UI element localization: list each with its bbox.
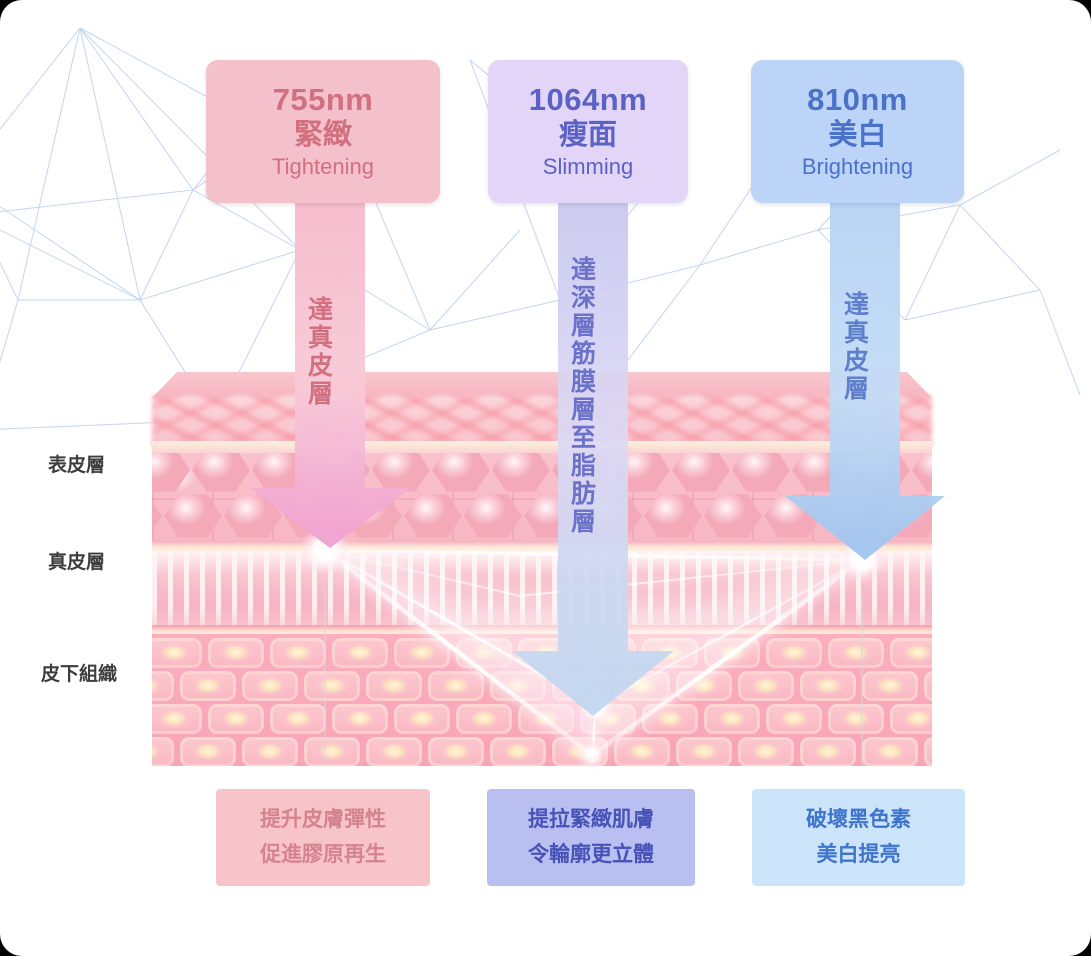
fat-cell bbox=[890, 704, 932, 734]
wavelength-card-755[interactable]: 755nm 緊緻 Tightening bbox=[206, 60, 440, 203]
fat-cell bbox=[924, 671, 932, 701]
arrow-810nm-label: 達真皮層 bbox=[839, 291, 870, 403]
benefit-1064-line2: 令輪廓更立體 bbox=[528, 838, 654, 872]
wavelength-card-810[interactable]: 810nm 美白 Brightening bbox=[751, 60, 964, 203]
fat-cell bbox=[676, 671, 732, 701]
fat-cell bbox=[704, 704, 760, 734]
fat-cell bbox=[800, 737, 856, 766]
wavelength-value-755: 755nm bbox=[273, 83, 374, 118]
fat-cell bbox=[490, 737, 546, 766]
fat-cell bbox=[242, 737, 298, 766]
fat-cell bbox=[456, 638, 512, 668]
fat-cell bbox=[828, 638, 884, 668]
epidermis-cell bbox=[672, 453, 730, 493]
fat-cell bbox=[704, 638, 760, 668]
fat-cell bbox=[180, 737, 236, 766]
fat-cell bbox=[394, 704, 450, 734]
fat-cell bbox=[924, 737, 932, 766]
epidermis-cell bbox=[152, 453, 190, 493]
fat-cell bbox=[152, 704, 202, 734]
fat-cell bbox=[456, 704, 512, 734]
fat-cell bbox=[828, 704, 884, 734]
benefit-810-line1: 破壞黑色素 bbox=[806, 803, 911, 837]
fat-cell bbox=[676, 737, 732, 766]
wavelength-card-1064[interactable]: 1064nm 瘦面 Slimming bbox=[488, 60, 688, 203]
fat-cell bbox=[242, 671, 298, 701]
fat-cell bbox=[738, 737, 794, 766]
fat-cell bbox=[428, 671, 484, 701]
benefit-box-810[interactable]: 破壞黑色素 美白提亮 bbox=[752, 789, 965, 886]
epidermis-cell bbox=[164, 493, 222, 539]
fat-cell bbox=[394, 638, 450, 668]
fat-cell bbox=[332, 704, 388, 734]
fat-cell bbox=[304, 737, 360, 766]
fat-cell bbox=[152, 638, 202, 668]
fat-cell bbox=[614, 737, 670, 766]
fat-cell bbox=[208, 704, 264, 734]
fat-cell bbox=[428, 737, 484, 766]
epidermis-cell bbox=[192, 453, 250, 493]
fat-cell bbox=[366, 671, 422, 701]
benefit-755-line1: 提升皮膚彈性 bbox=[260, 803, 386, 837]
benefit-755-line2: 促進膠原再生 bbox=[260, 838, 386, 872]
fat-cell bbox=[332, 638, 388, 668]
epidermis-cell bbox=[732, 453, 790, 493]
epidermis-cell bbox=[704, 493, 762, 539]
arrow-1064nm-label: 達深層筋膜層至脂肪層 bbox=[566, 256, 597, 536]
wavelength-cn-755: 緊緻 bbox=[294, 118, 352, 153]
fat-cell bbox=[552, 737, 608, 766]
fat-cell bbox=[862, 737, 918, 766]
fat-cell bbox=[304, 671, 360, 701]
layer-label-epidermis: 表皮層 bbox=[48, 450, 105, 477]
fat-cell bbox=[800, 671, 856, 701]
wavelength-en-810: Brightening bbox=[802, 154, 913, 180]
fat-cell bbox=[152, 737, 174, 766]
benefit-box-755[interactable]: 提升皮膚彈性 促進膠原再生 bbox=[216, 789, 430, 886]
fat-cell bbox=[366, 737, 422, 766]
benefit-810-line2: 美白提亮 bbox=[817, 838, 901, 872]
fat-cell bbox=[862, 671, 918, 701]
wavelength-value-810: 810nm bbox=[807, 83, 908, 118]
fat-cell bbox=[890, 638, 932, 668]
epidermis-cell bbox=[432, 453, 490, 493]
epidermis-cell bbox=[404, 493, 462, 539]
layer-label-hypodermis: 皮下組織 bbox=[41, 659, 117, 686]
wavelength-cn-1064: 瘦面 bbox=[559, 118, 617, 153]
fat-cell bbox=[270, 704, 326, 734]
benefit-1064-line1: 提拉緊緻肌膚 bbox=[528, 803, 654, 837]
fat-cell-row bbox=[152, 737, 932, 766]
fat-cell bbox=[738, 671, 794, 701]
wavelength-cn-810: 美白 bbox=[828, 118, 886, 153]
wavelength-en-755: Tightening bbox=[272, 154, 374, 180]
fat-cell bbox=[152, 671, 174, 701]
fat-cell bbox=[208, 638, 264, 668]
wavelength-en-1064: Slimming bbox=[543, 154, 633, 180]
benefit-box-1064[interactable]: 提拉緊緻肌膚 令輪廓更立體 bbox=[487, 789, 695, 886]
infographic-card: 達真皮層 達深層筋膜層至脂肪層 達真皮層 755nm 緊緻 Tighte bbox=[0, 0, 1091, 956]
fat-cell bbox=[270, 638, 326, 668]
epidermis-cell bbox=[152, 493, 162, 539]
layer-label-dermis: 真皮層 bbox=[48, 547, 105, 574]
fat-cell bbox=[180, 671, 236, 701]
arrow-755nm-label: 達真皮層 bbox=[303, 296, 334, 408]
fat-cell bbox=[766, 704, 822, 734]
fat-cell bbox=[766, 638, 822, 668]
wavelength-value-1064: 1064nm bbox=[529, 83, 647, 118]
